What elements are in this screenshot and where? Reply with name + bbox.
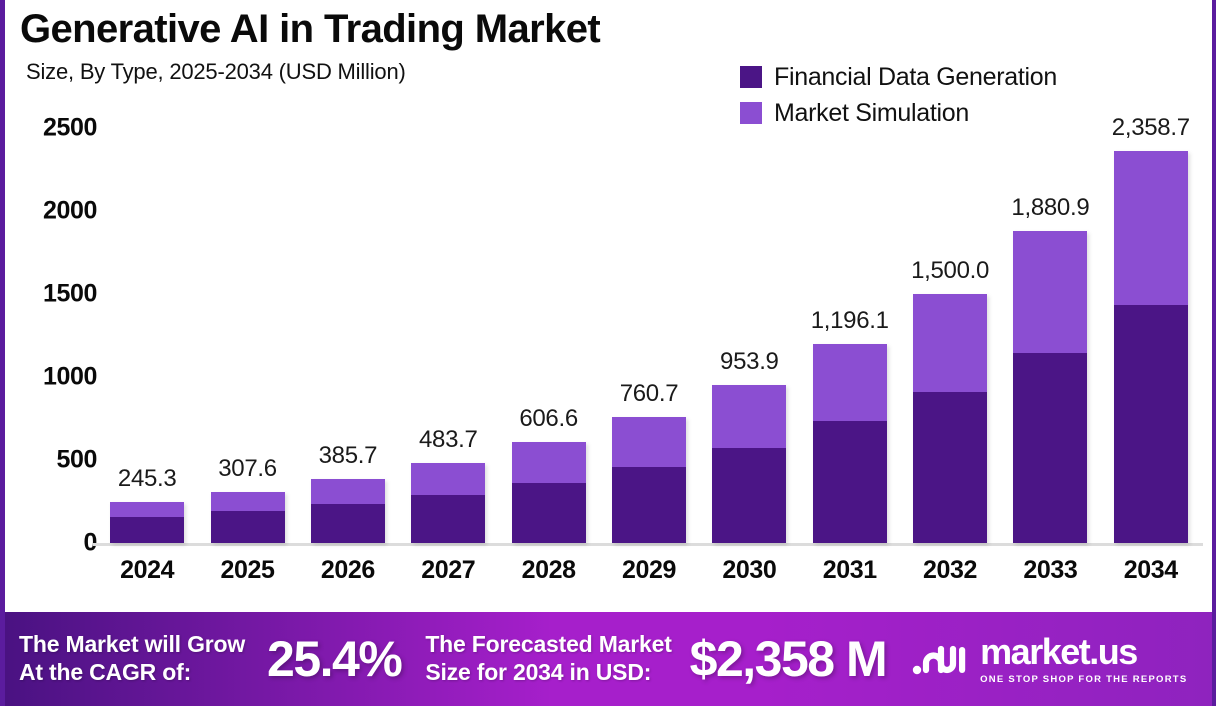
- bar-column[interactable]: 483.7: [398, 426, 498, 543]
- bar-value-label: 760.7: [620, 380, 679, 408]
- bar-segment-market-simulation[interactable]: [512, 442, 586, 482]
- market-us-logo[interactable]: market.us ONE STOP SHOP FOR THE REPORTS: [912, 634, 1187, 685]
- bar-value-label: 606.6: [519, 405, 578, 433]
- bar-segment-financial-data-generation[interactable]: [712, 448, 786, 543]
- forecast-caption: The Forecasted Market Size for 2034 in U…: [425, 631, 671, 686]
- chart-infographic: Generative AI in Trading Market Size, By…: [0, 0, 1216, 706]
- bar-column[interactable]: 385.7: [298, 442, 398, 543]
- bar-segment-market-simulation[interactable]: [712, 385, 786, 448]
- x-axis-tick-label: 2032: [900, 556, 1000, 585]
- bar-segment-financial-data-generation[interactable]: [211, 511, 285, 543]
- x-axis: 2024202520262027202820292030203120322033…: [97, 556, 1201, 585]
- bar-segment-financial-data-generation[interactable]: [1114, 305, 1188, 543]
- bar-value-label: 1,880.9: [1011, 194, 1089, 222]
- y-axis-tick-label: 1000: [11, 363, 97, 392]
- bar-column[interactable]: 953.9: [699, 348, 799, 543]
- bar-segment-financial-data-generation[interactable]: [1013, 353, 1087, 543]
- bar-column[interactable]: 760.7: [599, 380, 699, 543]
- y-axis-tick-label: 500: [11, 446, 97, 475]
- logo-wordmark: market.us: [980, 634, 1187, 670]
- bar-segment-financial-data-generation[interactable]: [813, 421, 887, 543]
- y-axis-tick-label: 2000: [11, 197, 97, 226]
- x-axis-tick-label: 2033: [1000, 556, 1100, 585]
- bar-stack[interactable]: [813, 344, 887, 543]
- bar-value-label: 385.7: [319, 442, 378, 470]
- bar-stack[interactable]: [411, 463, 485, 543]
- bar-segment-market-simulation[interactable]: [1013, 231, 1087, 353]
- x-axis-tick-label: 2027: [398, 556, 498, 585]
- x-axis-tick-label: 2029: [599, 556, 699, 585]
- bar-stack[interactable]: [913, 294, 987, 543]
- bar-segment-market-simulation[interactable]: [311, 479, 385, 504]
- y-axis-tick-label: 1500: [11, 280, 97, 309]
- bar-series-group: 245.3307.6385.7483.7606.6760.7953.91,196…: [97, 128, 1201, 543]
- bar-segment-market-simulation[interactable]: [612, 417, 686, 468]
- bar-column[interactable]: 245.3: [97, 465, 197, 543]
- bar-column[interactable]: 1,500.0: [900, 257, 1000, 543]
- bar-segment-financial-data-generation[interactable]: [612, 467, 686, 543]
- bar-stack[interactable]: [1114, 151, 1188, 543]
- cagr-caption-line1: The Market will Grow: [19, 631, 245, 659]
- bar-column[interactable]: 1,196.1: [800, 307, 900, 543]
- bar-segment-market-simulation[interactable]: [110, 502, 184, 517]
- bar-stack[interactable]: [1013, 231, 1087, 543]
- forecast-caption-line1: The Forecasted Market: [425, 631, 671, 659]
- x-axis-tick-label: 2024: [97, 556, 197, 585]
- x-axis-tick-label: 2031: [800, 556, 900, 585]
- market-us-signal-icon: [912, 639, 970, 679]
- bar-value-label: 245.3: [118, 465, 177, 493]
- bar-column[interactable]: 307.6: [197, 455, 297, 543]
- bar-column[interactable]: 2,358.7: [1101, 114, 1201, 543]
- bar-value-label: 1,500.0: [911, 257, 989, 285]
- bar-value-label: 953.9: [720, 348, 779, 376]
- x-axis-tick-label: 2034: [1101, 556, 1201, 585]
- x-axis-baseline: [93, 543, 1203, 546]
- x-axis-tick-label: 2028: [498, 556, 598, 585]
- x-axis-tick-label: 2030: [699, 556, 799, 585]
- forecast-caption-line2: Size for 2034 in USD:: [425, 659, 671, 687]
- y-axis: 05001000150020002500: [5, 0, 97, 600]
- bar-segment-market-simulation[interactable]: [913, 294, 987, 392]
- summary-banner: The Market will Grow At the CAGR of: 25.…: [5, 612, 1216, 706]
- logo-tagline: ONE STOP SHOP FOR THE REPORTS: [980, 674, 1187, 685]
- logo-text: market.us ONE STOP SHOP FOR THE REPORTS: [980, 634, 1187, 685]
- bar-segment-market-simulation[interactable]: [1114, 151, 1188, 305]
- bar-stack[interactable]: [712, 385, 786, 543]
- bar-value-label: 1,196.1: [811, 307, 889, 335]
- plot-area: 05001000150020002500 245.3307.6385.7483.…: [5, 0, 1216, 600]
- cagr-caption: The Market will Grow At the CAGR of:: [19, 631, 245, 686]
- bar-stack[interactable]: [311, 479, 385, 543]
- bar-segment-financial-data-generation[interactable]: [913, 392, 987, 543]
- bar-column[interactable]: 1,880.9: [1000, 194, 1100, 543]
- bar-stack[interactable]: [512, 442, 586, 543]
- x-axis-tick-label: 2026: [298, 556, 398, 585]
- bar-segment-market-simulation[interactable]: [411, 463, 485, 495]
- bar-value-label: 483.7: [419, 426, 478, 454]
- bar-segment-financial-data-generation[interactable]: [110, 517, 184, 543]
- bar-value-label: 307.6: [218, 455, 277, 483]
- bar-value-label: 2,358.7: [1112, 114, 1190, 142]
- bar-stack[interactable]: [211, 492, 285, 543]
- y-axis-tick-label: 2500: [11, 114, 97, 143]
- bar-segment-market-simulation[interactable]: [211, 492, 285, 511]
- forecast-value: $2,358 M: [690, 630, 886, 688]
- bar-segment-financial-data-generation[interactable]: [311, 504, 385, 543]
- bar-stack[interactable]: [110, 502, 184, 543]
- bar-column[interactable]: 606.6: [498, 405, 598, 543]
- cagr-caption-line2: At the CAGR of:: [19, 659, 245, 687]
- x-axis-tick-label: 2025: [197, 556, 297, 585]
- bar-stack[interactable]: [612, 417, 686, 543]
- bar-segment-financial-data-generation[interactable]: [512, 483, 586, 543]
- y-axis-tick-label: 0: [11, 529, 97, 558]
- bar-segment-market-simulation[interactable]: [813, 344, 887, 421]
- cagr-value: 25.4%: [267, 630, 401, 688]
- bar-segment-financial-data-generation[interactable]: [411, 495, 485, 543]
